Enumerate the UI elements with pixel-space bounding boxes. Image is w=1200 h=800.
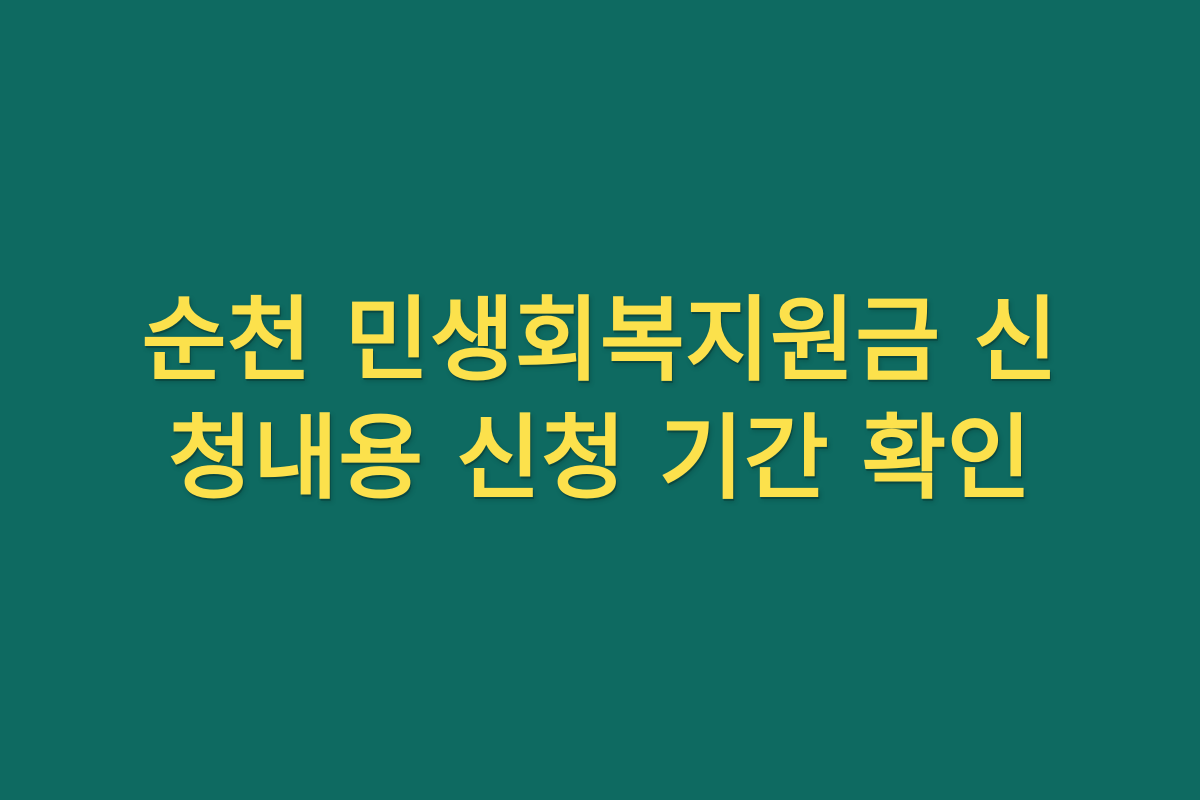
headline-line-1: 순천 민생회복지원금 신 bbox=[95, 282, 1105, 400]
headline-line-2: 청내용 신청 기간 확인 bbox=[95, 400, 1105, 518]
banner-canvas: 순천 민생회복지원금 신 청내용 신청 기간 확인 bbox=[0, 0, 1200, 800]
page-title: 순천 민생회복지원금 신 청내용 신청 기간 확인 bbox=[95, 282, 1105, 518]
